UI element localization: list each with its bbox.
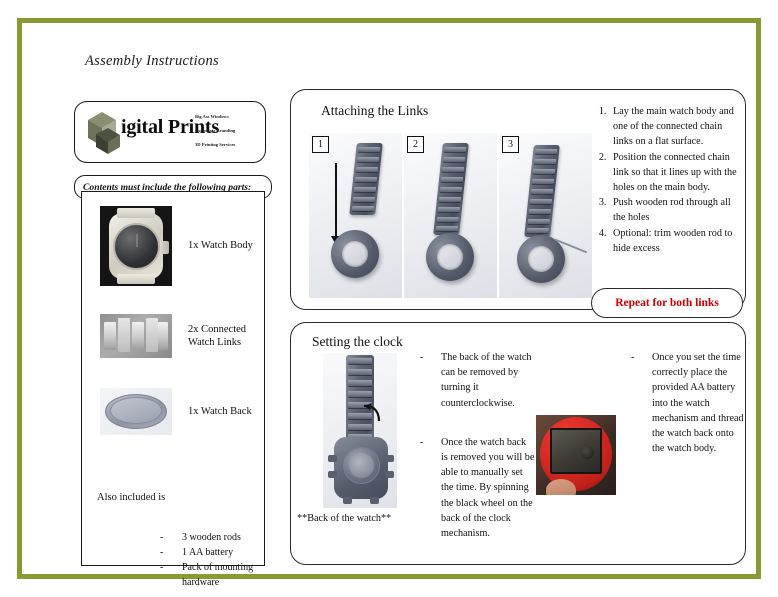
list-item: Optional: trim wooden rod to hide excess bbox=[609, 226, 737, 256]
part-label: 1x Watch Body bbox=[188, 239, 253, 253]
list-item: The back of the watch can be removed by … bbox=[417, 350, 535, 411]
step-image-2: 2 bbox=[404, 133, 497, 298]
list-item: Pack of mounting hardware bbox=[160, 560, 270, 590]
part-label-line1: 2x Connected bbox=[188, 323, 246, 337]
step-number-badge: 2 bbox=[407, 136, 424, 153]
step-image-3: 3 bbox=[499, 133, 592, 298]
setting-clock-panel: Setting the clock bbox=[290, 322, 746, 565]
logo-tagline-3: 3D Printing Services bbox=[195, 138, 259, 152]
connected-links-photo bbox=[100, 314, 172, 358]
attaching-links-title: Attaching the Links bbox=[321, 103, 428, 119]
also-included-heading: Also included is bbox=[97, 492, 165, 503]
page-title: Assembly Instructions bbox=[85, 53, 219, 70]
repeat-note-text: Repeat for both links bbox=[615, 297, 719, 309]
repeat-note-box: Repeat for both links bbox=[591, 288, 743, 318]
watch-back-caption: **Back of the watch** bbox=[297, 513, 391, 524]
list-item: 1 AA battery bbox=[160, 545, 270, 560]
list-item: Push wooden rod through all the holes bbox=[609, 195, 737, 225]
list-item: Position the connected chain link so tha… bbox=[609, 150, 737, 196]
down-arrow-icon bbox=[335, 163, 337, 237]
page-border-frame: Assembly Instructions igital Prints Big … bbox=[17, 18, 761, 579]
attaching-links-panel: Attaching the Links 1 2 bbox=[290, 89, 746, 310]
logo-tagline-1: Big Ass Windows bbox=[195, 110, 259, 124]
part-label: 2x Connected Watch Links bbox=[188, 323, 246, 350]
logo-taglines: Big Ass Windows Corporate Branding 3D Pr… bbox=[195, 110, 259, 152]
part-label-line2: Watch Links bbox=[188, 336, 246, 350]
list-item: Once the watch back is removed you will … bbox=[417, 435, 535, 541]
setting-clock-bullets-right: Once you set the time correctly place th… bbox=[628, 350, 746, 456]
company-logo: igital Prints Big Ass Windows Corporate … bbox=[74, 101, 266, 163]
watch-back-with-mechanism-photo bbox=[536, 415, 616, 495]
step-number-badge: 3 bbox=[502, 136, 519, 153]
part-label: 1x Watch Back bbox=[188, 405, 252, 419]
watch-back-diagram bbox=[323, 353, 397, 508]
table-row: 1x Watch Back bbox=[82, 388, 264, 435]
document-sheet: Assembly Instructions igital Prints Big … bbox=[40, 39, 746, 566]
setting-clock-bullets-middle: The back of the watch can be removed by … bbox=[417, 350, 535, 541]
list-item: Lay the main watch body and one of the c… bbox=[609, 104, 737, 150]
list-item: Once you set the time correctly place th… bbox=[628, 350, 746, 456]
step-number-badge: 1 bbox=[312, 136, 329, 153]
watch-body-photo bbox=[100, 206, 172, 286]
table-row: 2x Connected Watch Links bbox=[82, 314, 264, 358]
watch-back-photo bbox=[100, 388, 172, 435]
parts-list-table: 1x Watch Body 2x Connected Watch Links bbox=[81, 191, 265, 566]
attaching-links-instructions: Lay the main watch body and one of the c… bbox=[587, 104, 737, 256]
logo-tagline-2: Corporate Branding bbox=[195, 124, 259, 138]
setting-clock-title: Setting the clock bbox=[312, 334, 403, 350]
step-image-1: 1 bbox=[309, 133, 402, 298]
table-row: 1x Watch Body bbox=[82, 206, 264, 286]
also-included-list: 3 wooden rods 1 AA battery Pack of mount… bbox=[120, 530, 270, 590]
counterclockwise-arrow-icon bbox=[359, 401, 383, 425]
list-item: 3 wooden rods bbox=[160, 530, 270, 545]
